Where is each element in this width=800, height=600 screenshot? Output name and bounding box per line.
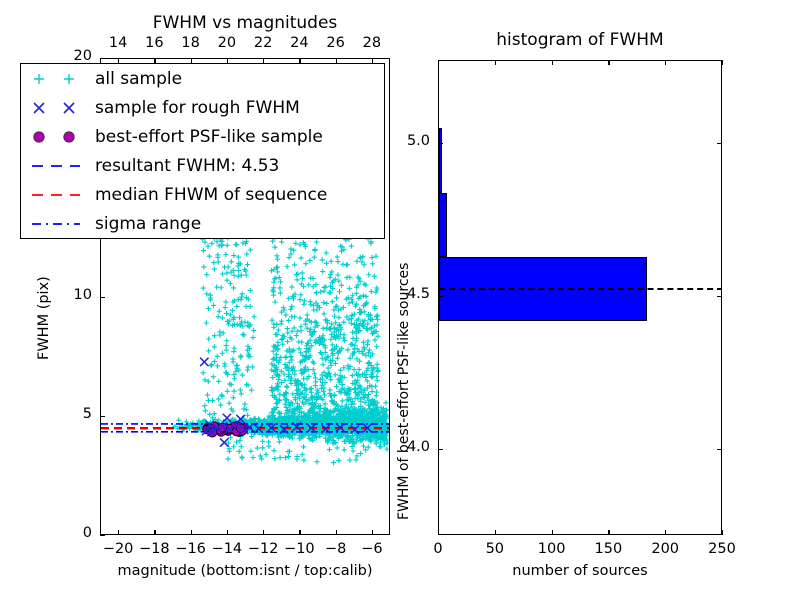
legend-item[interactable]: median FHWM of sequence (21, 180, 384, 209)
xtick-label-right-panel: 100 (530, 541, 574, 557)
tick-mark (552, 60, 553, 65)
tick-mark (722, 60, 723, 65)
ytick-label-left: 0 (52, 525, 92, 541)
legend-label: median FHWM of sequence (95, 185, 327, 205)
tick-mark (438, 143, 443, 144)
right-panel-xlabel: number of sources (438, 563, 722, 579)
tick-mark (191, 530, 192, 535)
tick-mark (495, 60, 496, 65)
legend-marker-plus-icon (21, 64, 95, 93)
tick-mark (717, 143, 722, 144)
legend-item[interactable]: best-effort PSF-like sample (21, 122, 384, 151)
tick-mark (299, 530, 300, 535)
xtick-label-right-panel: 50 (473, 541, 517, 557)
tick-mark (717, 449, 722, 450)
legend-label: sample for rough FWHM (95, 98, 300, 118)
ytick-label-left: 5 (52, 406, 92, 422)
tick-mark (665, 530, 666, 535)
legend-item[interactable]: resultant FWHM: 4.53 (21, 151, 384, 180)
legend-marker-circle-icon (21, 122, 95, 151)
tick-mark (717, 296, 722, 297)
tick-mark (118, 530, 119, 535)
legend-marker-dashed-icon (21, 180, 95, 209)
ytick-label-right-panel: 4.0 (386, 439, 430, 455)
tick-mark (100, 297, 105, 298)
tick-mark (263, 530, 264, 535)
left-panel-title: FWHM vs magnitudes (100, 13, 390, 33)
xtick-label-top: 28 (350, 35, 394, 51)
xtick-label-right-panel: 0 (416, 541, 460, 557)
right-plot-axes (438, 60, 722, 535)
right-panel-title: histogram of FWHM (438, 30, 722, 50)
histogram-data-layer (439, 61, 721, 534)
xtick-label-right-panel: 250 (700, 541, 744, 557)
legend-marker-dashed-icon (21, 151, 95, 180)
tick-mark (372, 530, 373, 535)
ytick-label-right-panel: 4.5 (386, 286, 430, 302)
legend-item[interactable]: sample for rough FWHM (21, 93, 384, 122)
ytick-label-right-panel: 5.0 (386, 133, 430, 149)
tick-mark (608, 60, 609, 65)
xtick-label-right-panel: 150 (586, 541, 630, 557)
xtick-label-right-panel: 200 (643, 541, 687, 557)
left-panel-ylabel: FWHM (pix) (36, 276, 52, 360)
ytick-label-left: 10 (52, 287, 92, 303)
histogram-bar (439, 193, 447, 257)
figure-canvas: FWHM vs magnitudes FWHM (pix) magnitude … (0, 0, 800, 600)
left-panel-xlabel: magnitude (bottom:isnt / top:calib) (100, 563, 390, 579)
tick-mark (438, 449, 443, 450)
legend-label: sigma range (95, 214, 201, 234)
histogram-median-line (439, 288, 721, 290)
tick-mark (438, 60, 439, 65)
histogram-bar (439, 128, 442, 192)
xtick-label-bottom: −6 (350, 541, 394, 557)
legend-label: all sample (95, 69, 182, 89)
legend-marker-cross-icon (21, 93, 95, 122)
tick-mark (100, 58, 105, 59)
tick-mark (608, 530, 609, 535)
tick-mark (336, 530, 337, 535)
legend-label: resultant FWHM: 4.53 (95, 156, 279, 176)
legend-label: best-effort PSF-like sample (95, 127, 323, 147)
tick-mark (438, 530, 439, 535)
tick-mark (227, 530, 228, 535)
tick-mark (154, 530, 155, 535)
tick-mark (722, 530, 723, 535)
histogram-bar (439, 257, 647, 321)
ytick-label-left: 20 (52, 48, 92, 64)
tick-mark (495, 530, 496, 535)
tick-mark (438, 296, 443, 297)
tick-mark (100, 535, 105, 536)
tick-mark (665, 60, 666, 65)
tick-mark (552, 530, 553, 535)
legend-box: all samplesample for rough FWHMbest-effo… (20, 63, 385, 239)
legend-item[interactable]: sigma range (21, 209, 384, 238)
tick-mark (100, 416, 105, 417)
legend-item[interactable]: all sample (21, 64, 384, 93)
legend-marker-dashdot-icon (21, 209, 95, 238)
